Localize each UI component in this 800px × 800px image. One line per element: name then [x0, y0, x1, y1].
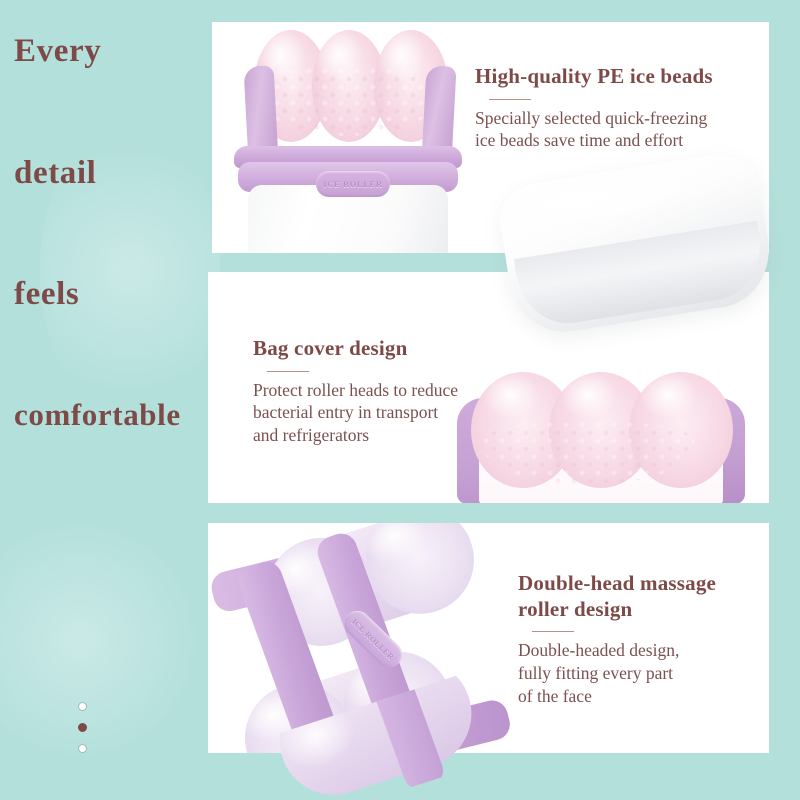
heading-divider	[532, 631, 574, 632]
pager-dot-active[interactable]	[78, 723, 87, 732]
product-logo-badge: ICE ROLLER	[316, 171, 390, 197]
feature-heading: High-quality PE ice beads	[475, 64, 769, 90]
heading-divider	[489, 99, 531, 100]
infographic-canvas: Every detail feels comfortable ICE ROLLE…	[0, 0, 800, 800]
background-glow	[0, 520, 200, 760]
pager-dot[interactable]	[78, 744, 87, 753]
feature-copy-ice-beads: High-quality PE ice beads Specially sele…	[475, 64, 769, 152]
pager-dots[interactable]	[78, 702, 96, 765]
product-logo-text: ICE ROLLER	[323, 179, 382, 189]
feature-heading: Double-head massage roller design	[518, 571, 768, 622]
headline-word-3: feels	[14, 278, 79, 311]
heading-divider	[267, 371, 309, 372]
feature-heading: Bag cover design	[253, 336, 503, 362]
feature-body: Double-headed design, fully fitting ever…	[518, 639, 768, 707]
headline-word-2: detail	[14, 157, 96, 190]
headline-word-1: Every	[14, 35, 101, 68]
roller-head-product-image	[457, 372, 745, 503]
pager-dot[interactable]	[78, 702, 87, 711]
ice-roller-product-image: ICE ROLLER	[234, 30, 464, 253]
feature-copy-double-head: Double-head massage roller design Double…	[518, 571, 768, 707]
feature-body: Specially selected quick-freezing ice be…	[475, 107, 769, 153]
headline-word-4: comfortable	[14, 399, 181, 430]
